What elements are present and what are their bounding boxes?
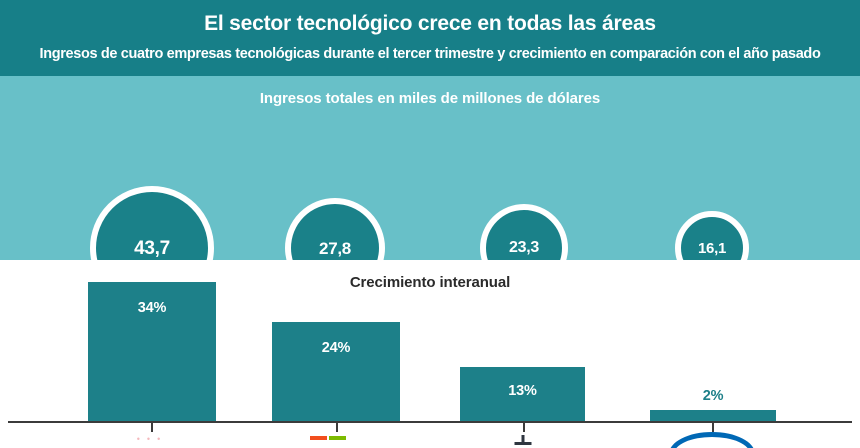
bar-label-intel: 2% [650, 388, 776, 404]
bar-chart: 34% 24% 13% 2% [0, 260, 860, 448]
header-band: El sector tecnológico crece en todas las… [0, 0, 860, 76]
growth-section: Crecimiento interanual 34% 24% 13% 2% [0, 260, 860, 448]
bar-label-apple: 34% [88, 300, 216, 316]
revenue-bubble-value: 43,7 [134, 239, 170, 258]
bar-intel [650, 410, 776, 421]
intel-logo-icon [651, 430, 773, 448]
revenue-bubble-value: 27,8 [319, 240, 351, 257]
revenue-section: Ingresos totales en miles de millones de… [0, 76, 860, 260]
chart-axis-line [8, 421, 852, 423]
bar-label-microsoft: 24% [272, 340, 400, 356]
bubble-row: 43,7 27,8 23,3 16,1 [0, 76, 860, 260]
revenue-bubble-value: 16,1 [698, 241, 726, 256]
amazon-logo-icon [462, 430, 584, 448]
revenue-bubble-value: 23,3 [509, 240, 539, 256]
bar-microsoft [272, 322, 400, 421]
page-subtitle: Ingresos de cuatro empresas tecnológicas… [0, 46, 860, 62]
microsoft-square-green [329, 436, 346, 440]
bar-label-amazon: 13% [460, 383, 585, 399]
amazon-logo-bar [515, 442, 532, 445]
infographic-root: El sector tecnológico crece en todas las… [0, 0, 860, 448]
page-title: El sector tecnológico crece en todas las… [0, 12, 860, 36]
apple-logo-glyph: ••• [137, 434, 167, 444]
logo-strip: ••• [0, 430, 860, 448]
microsoft-logo-icon [275, 430, 397, 448]
microsoft-square-red [310, 436, 327, 440]
apple-logo-icon: ••• [91, 430, 213, 448]
intel-logo-arc [669, 432, 755, 448]
